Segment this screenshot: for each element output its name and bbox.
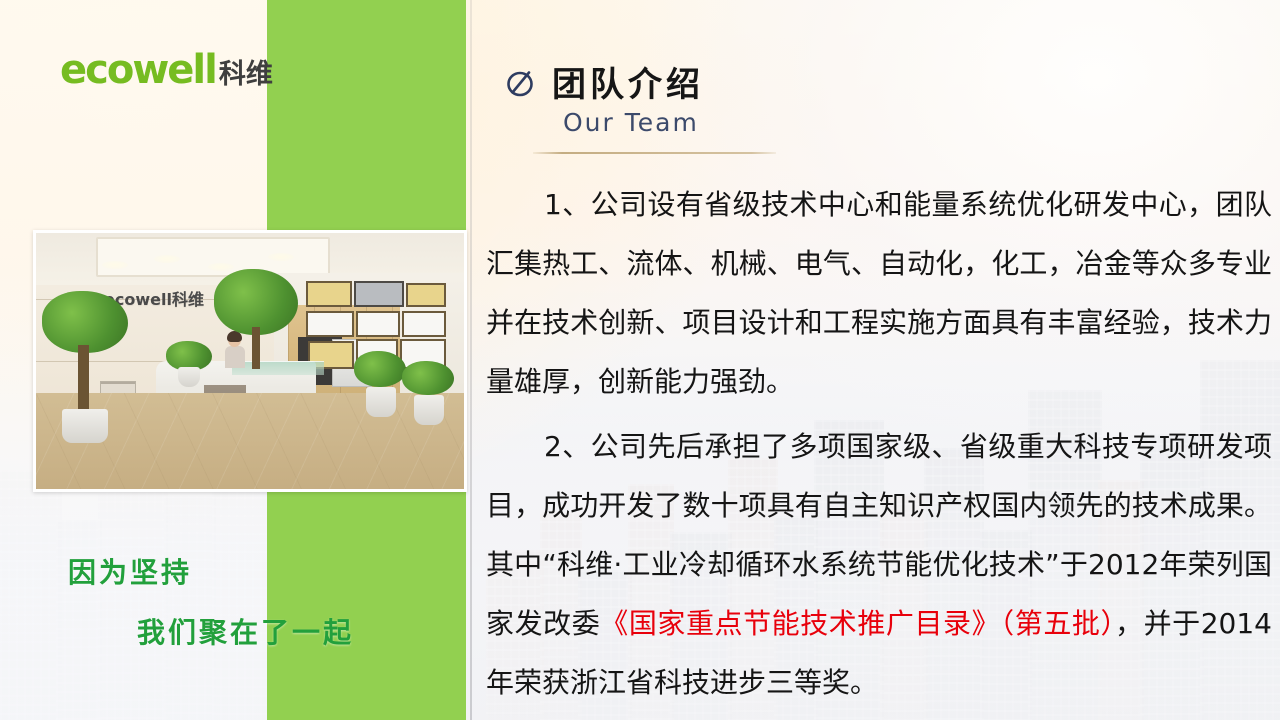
photo-certificate-frame — [306, 311, 354, 337]
body-copy: 1、公司设有省级技术中心和能量系统优化研发中心，团队汇集热工、流体、机械、电气、… — [486, 175, 1272, 716]
slide-title-row: 团队介绍 — [504, 57, 704, 106]
photo-potted-tree-center — [214, 269, 298, 373]
company-logo: ecowell 科维 — [60, 47, 273, 93]
photo-wall-logo-cn: 科维 — [172, 290, 204, 309]
paragraph-1: 1、公司设有省级技术中心和能量系统优化研发中心，团队汇集热工、流体、机械、电气、… — [486, 175, 1272, 411]
slide: ecowell 科维 ecowell科维 — [0, 0, 1280, 720]
office-reception-photo: ecowell科维 — [33, 230, 467, 492]
photo-ceiling-light — [154, 255, 180, 263]
photo-ceiling-light — [268, 253, 294, 261]
photo-ceiling-light — [102, 261, 128, 269]
logo-wordmark-cn: 科维 — [219, 52, 273, 91]
photo-potted-tree-left — [42, 291, 128, 451]
photo-certificate-frame — [354, 281, 404, 307]
vertical-divider — [470, 0, 472, 720]
paragraph-2: 2、公司先后承担了多项国家级、省级重大科技专项研发项目，成功开发了数十项具有自主… — [486, 417, 1272, 712]
logo-wordmark-en: ecowell — [60, 47, 216, 93]
slashed-circle-icon — [504, 65, 538, 99]
photo-desk-plant — [166, 341, 212, 391]
page-title: 团队介绍 — [552, 57, 704, 106]
photo-certificate-frame — [406, 283, 446, 307]
photo-certificate-frame — [356, 311, 400, 337]
tagline-line-1: 因为坚持 — [68, 551, 192, 591]
photo-potted-plant-right-2 — [402, 361, 454, 435]
page-subtitle: Our Team — [563, 108, 699, 137]
title-underline — [533, 152, 776, 154]
content-panel: 团队介绍 Our Team 1、公司设有省级技术中心和能量系统优化研发中心，团队… — [478, 0, 1280, 720]
paragraph-2-highlight: 《国家重点节能技术推广目录》（第五批） — [600, 607, 1115, 640]
photo-potted-plant-right-1 — [354, 351, 406, 429]
photo-certificate-frame — [306, 281, 352, 307]
tagline-line-2: 我们聚在了一起 — [137, 611, 354, 651]
photo-certificate-frame — [402, 311, 446, 337]
